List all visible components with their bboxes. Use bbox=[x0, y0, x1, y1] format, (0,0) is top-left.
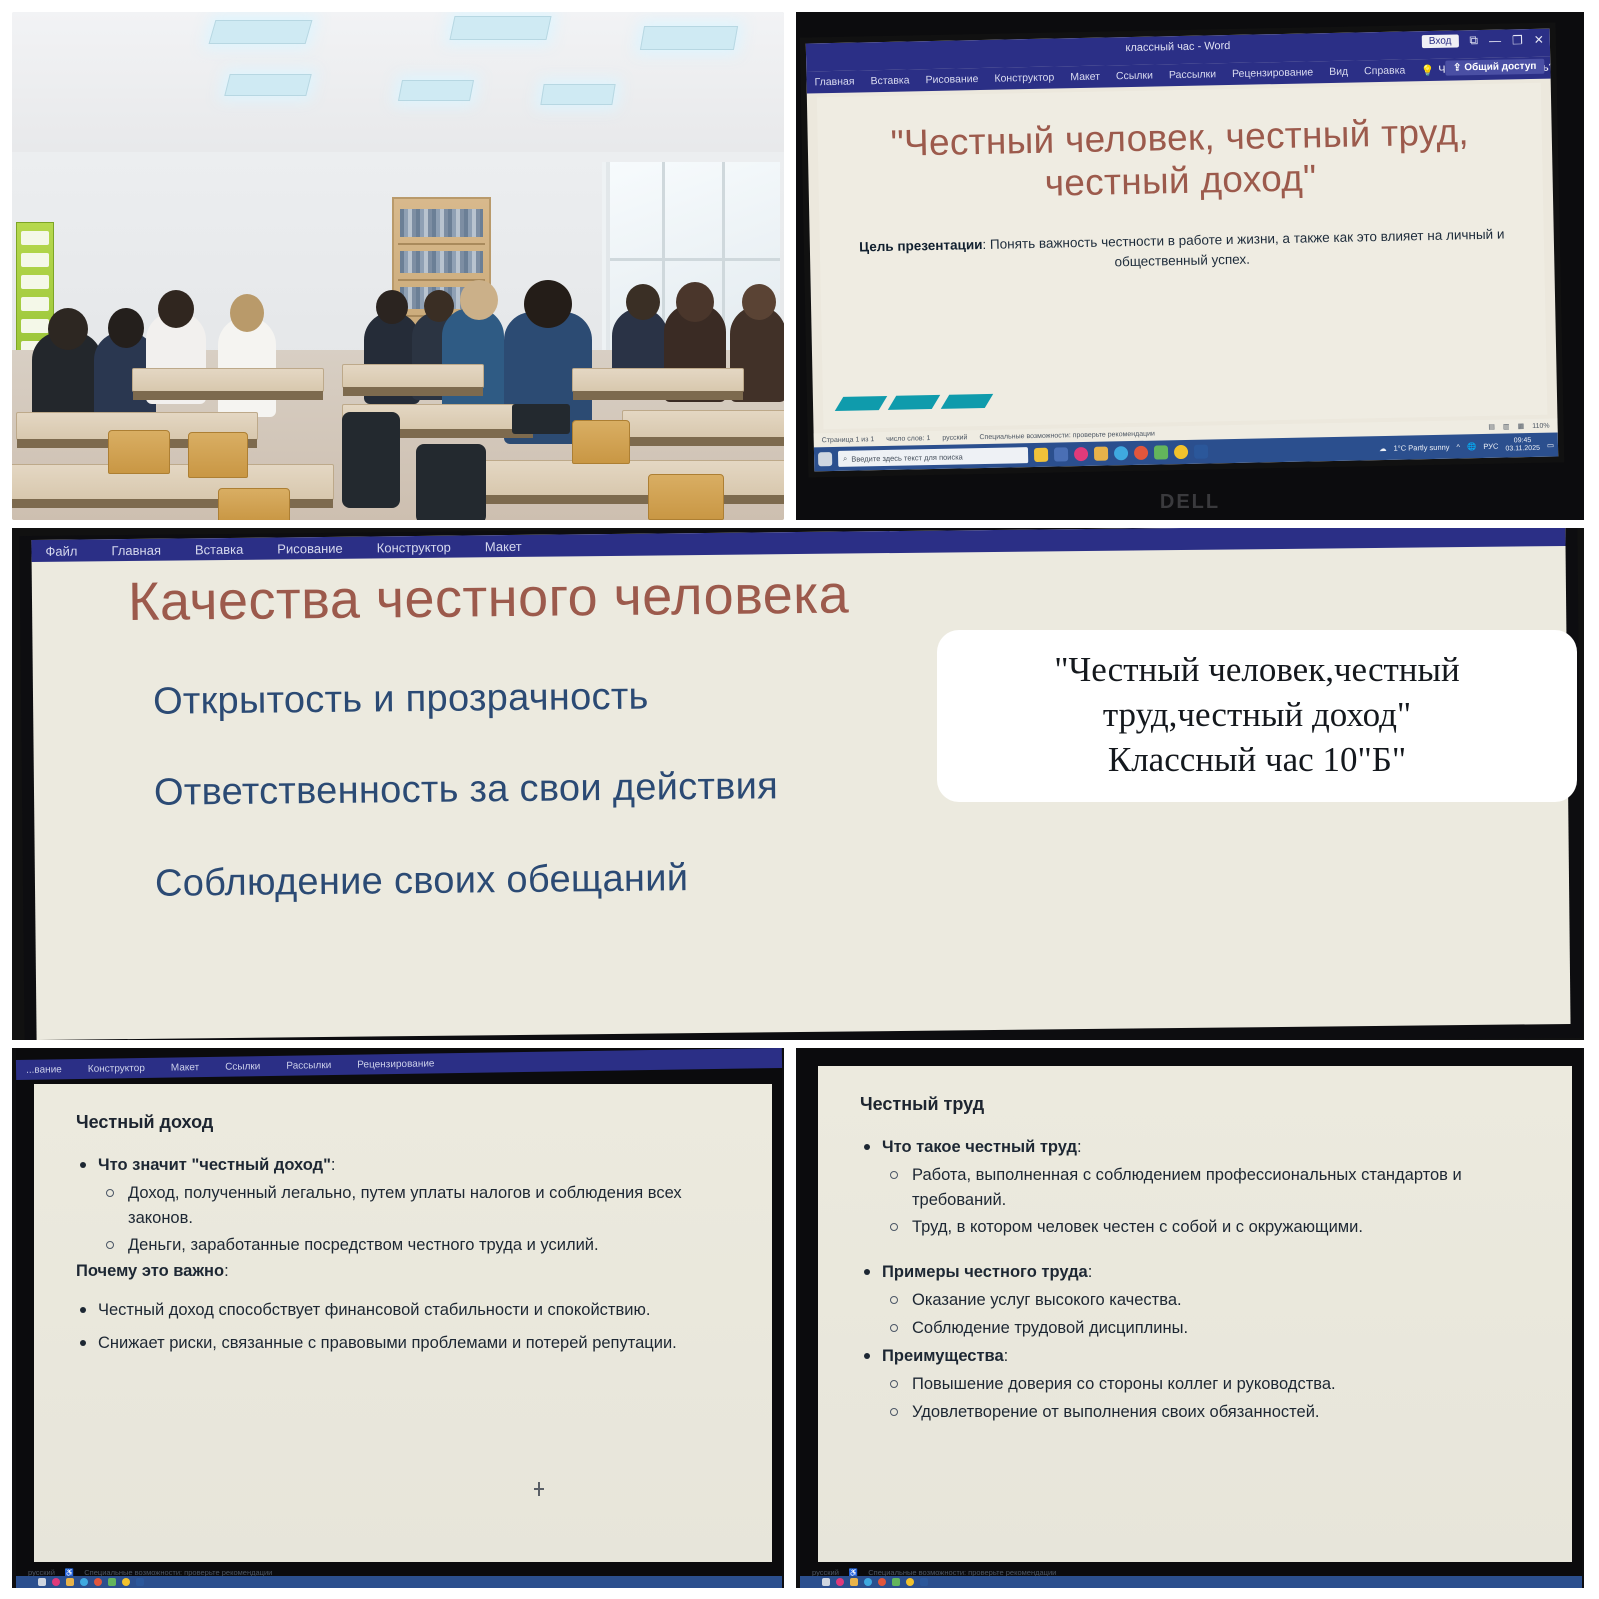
item-bold: Почему это важно bbox=[76, 1262, 224, 1280]
text-cursor-icon bbox=[534, 1482, 544, 1496]
tab-home[interactable]: Главная bbox=[814, 76, 854, 89]
list-item: Удовлетворение от выполнения своих обяза… bbox=[860, 1400, 1546, 1425]
share-icon: ⇪ bbox=[1453, 62, 1462, 73]
student-head bbox=[524, 280, 572, 328]
list-item: Что такое честный труд: bbox=[860, 1135, 1546, 1160]
desk bbox=[622, 410, 784, 438]
ceiling-lamp-icon bbox=[640, 26, 738, 50]
tab-review[interactable]: Рецензирование bbox=[1232, 66, 1313, 80]
status-right[interactable]: ▤ ▥ ▦ 110% bbox=[1488, 422, 1549, 431]
opera-icon[interactable] bbox=[52, 1578, 60, 1586]
caption-line-3: Классный час 10"Б" bbox=[963, 738, 1551, 783]
clock-date: 03.11.2025 bbox=[1505, 445, 1540, 453]
folder-icon[interactable] bbox=[1094, 447, 1108, 461]
slide-list: Что такое честный труд: Работа, выполнен… bbox=[818, 1115, 1572, 1425]
tab-help[interactable]: Справка bbox=[1364, 64, 1405, 77]
keyboard-language[interactable]: РУС bbox=[1483, 441, 1498, 450]
desk bbox=[572, 368, 744, 392]
explorer-icon[interactable] bbox=[1054, 447, 1068, 461]
student-head bbox=[230, 294, 264, 332]
browser-icon[interactable] bbox=[864, 1578, 872, 1586]
status-words: число слов: 1 bbox=[886, 435, 930, 443]
windows-taskbar[interactable] bbox=[16, 1576, 782, 1588]
list-item: Честный доход способствует финансовой ст… bbox=[76, 1298, 746, 1323]
status-accessibility[interactable]: Специальные возможности: проверьте реком… bbox=[979, 430, 1155, 441]
caption-line-2: труд,честный доход" bbox=[963, 693, 1551, 738]
caption-bubble: "Честный человек,честный труд,честный до… bbox=[937, 630, 1577, 802]
taskbar-search[interactable]: ⌕ Введите здесь текст для поиска bbox=[838, 447, 1028, 467]
student-head bbox=[676, 282, 714, 322]
sign-in-button[interactable]: Вход bbox=[1422, 34, 1459, 48]
screen: Честный труд Что такое честный труд: Раб… bbox=[818, 1066, 1572, 1562]
start-icon[interactable] bbox=[822, 1578, 830, 1586]
tab-draw[interactable]: Рисование bbox=[277, 540, 343, 556]
student-head bbox=[48, 308, 88, 350]
monitor-bezel: классный час - Word Вход ⧉ — ❐ ✕ Главная… bbox=[800, 22, 1565, 477]
screen: классный час - Word Вход ⧉ — ❐ ✕ Главная… bbox=[806, 29, 1558, 472]
tab-layout[interactable]: Макет bbox=[485, 538, 522, 553]
start-icon[interactable] bbox=[38, 1578, 46, 1586]
yandex-icon[interactable] bbox=[906, 1578, 914, 1586]
search-icon: ⌕ bbox=[843, 454, 847, 464]
status-page: Страница 1 из 1 bbox=[822, 436, 875, 444]
tab-design[interactable]: Конструктор bbox=[377, 539, 451, 555]
student bbox=[442, 308, 504, 412]
clock-time: 09:45 bbox=[1514, 437, 1532, 444]
list-item: Оказание услуг высокого качества. bbox=[860, 1288, 1546, 1313]
notifications-icon[interactable]: ▭ bbox=[1547, 440, 1554, 449]
word-icon[interactable] bbox=[1194, 445, 1208, 459]
list-item: Деньги, заработанные посредством честног… bbox=[76, 1233, 746, 1258]
tab-view[interactable]: Вид bbox=[1329, 66, 1348, 78]
item-rest: : bbox=[1077, 1138, 1082, 1156]
honest-labour-slide: Честный труд Что такое честный труд: Раб… bbox=[796, 1048, 1584, 1588]
word-icon[interactable] bbox=[920, 1578, 928, 1586]
tab-layout[interactable]: Макет bbox=[171, 1062, 199, 1073]
ceiling-lamp-icon bbox=[224, 74, 311, 96]
yandex-icon[interactable] bbox=[122, 1578, 130, 1586]
tab-insert[interactable]: Вставка bbox=[870, 74, 909, 87]
backpack bbox=[416, 444, 486, 520]
weather-label[interactable]: 1°C Partly sunny bbox=[1393, 442, 1449, 452]
slide-title: "Честный человек, честный труд, честный … bbox=[817, 83, 1543, 210]
item-bold: Что значит "честный доход" bbox=[98, 1156, 331, 1174]
list-item: Преимущества: bbox=[860, 1344, 1546, 1369]
close-icon[interactable]: ✕ bbox=[1534, 32, 1544, 46]
chair bbox=[108, 430, 170, 474]
chair bbox=[648, 474, 724, 520]
student-head bbox=[626, 284, 660, 320]
tab-design[interactable]: Конструктор bbox=[994, 72, 1054, 85]
ceiling-lamp-icon bbox=[209, 20, 313, 44]
backpack bbox=[342, 412, 400, 508]
document-page: "Честный человек, честный труд, честный … bbox=[817, 83, 1548, 429]
zoom-level[interactable]: 110% bbox=[1532, 422, 1550, 429]
chair bbox=[572, 420, 630, 464]
document-title: классный час - Word bbox=[1125, 40, 1230, 54]
desk bbox=[132, 368, 324, 392]
folder-icon[interactable] bbox=[850, 1578, 858, 1586]
ceiling-lamp-icon bbox=[449, 16, 551, 40]
share-button[interactable]: ⇪ Общий доступ bbox=[1445, 59, 1545, 76]
opera-icon[interactable] bbox=[836, 1578, 844, 1586]
bullet-promises: Соблюдение своих обещаний bbox=[155, 848, 1569, 906]
taskbar-clock[interactable]: 09:45 03.11.2025 bbox=[1505, 437, 1540, 454]
tab-design[interactable]: Конструктор bbox=[88, 1062, 145, 1074]
tab-layout[interactable]: Макет bbox=[1070, 71, 1100, 84]
pdf-icon[interactable] bbox=[878, 1578, 886, 1586]
notebook bbox=[512, 404, 570, 434]
chair bbox=[218, 488, 290, 520]
photo-collage: классный час - Word Вход ⧉ — ❐ ✕ Главная… bbox=[0, 0, 1599, 1599]
taskbar-tray[interactable]: ☁ 1°C Partly sunny ^ 🌐 РУС 09:45 03.11.2… bbox=[1379, 437, 1554, 457]
pdf-icon[interactable] bbox=[1134, 446, 1148, 460]
browser-icon[interactable] bbox=[1114, 446, 1128, 460]
goal-label: Цель презентации bbox=[859, 237, 983, 254]
list-item: Повышение доверия со стороны коллег и ру… bbox=[860, 1372, 1546, 1397]
slide-list: Что значит "честный доход": Доход, получ… bbox=[34, 1133, 772, 1355]
student-head bbox=[460, 280, 498, 320]
monitor-title-slide: классный час - Word Вход ⧉ — ❐ ✕ Главная… bbox=[796, 12, 1584, 520]
item-rest: : bbox=[224, 1262, 229, 1280]
tab-insert[interactable]: Вставка bbox=[195, 541, 243, 557]
item-rest: : bbox=[331, 1156, 336, 1174]
ceiling-lamp-icon bbox=[540, 84, 615, 105]
word-icon[interactable] bbox=[136, 1578, 144, 1586]
tab-home[interactable]: Главная bbox=[111, 542, 161, 558]
list-item: Что значит "честный доход": bbox=[76, 1153, 746, 1178]
tab-mailings[interactable]: Рассылки bbox=[286, 1060, 331, 1072]
item-rest: : bbox=[1088, 1263, 1093, 1281]
tab-references[interactable]: Ссылки bbox=[225, 1061, 260, 1073]
list-item: Примеры честного труда: bbox=[860, 1260, 1546, 1285]
item-bold: Преимущества bbox=[882, 1347, 1004, 1365]
student-head bbox=[158, 290, 194, 328]
decorative-stripes-icon bbox=[839, 394, 989, 411]
show-hidden-icons[interactable]: ^ bbox=[1456, 442, 1460, 451]
list-item: Работа, выполненная с соблюдением профес… bbox=[860, 1163, 1546, 1213]
student bbox=[218, 317, 276, 417]
student-head bbox=[108, 308, 144, 348]
restore-ribbon-icon[interactable]: ⧉ bbox=[1469, 33, 1478, 48]
folder-icon[interactable] bbox=[66, 1578, 74, 1586]
view-web-icon[interactable]: ▥ bbox=[1503, 422, 1510, 430]
yandex-icon[interactable] bbox=[1174, 445, 1188, 459]
excel-icon[interactable] bbox=[1154, 445, 1168, 459]
network-icon[interactable]: 🌐 bbox=[1467, 442, 1477, 451]
list-item: Доход, полученный легально, путем уплаты… bbox=[76, 1181, 746, 1231]
browser-icon[interactable] bbox=[80, 1578, 88, 1586]
ribbon-tabs[interactable]: ...вание Конструктор Макет Ссылки Рассыл… bbox=[16, 1048, 782, 1080]
monitor-brand-logo: DELL bbox=[1160, 491, 1220, 514]
chair bbox=[188, 432, 248, 478]
list-item: Почему это важно: bbox=[76, 1259, 746, 1284]
list-item: Соблюдение трудовой дисциплины. bbox=[860, 1316, 1546, 1341]
maximize-icon[interactable]: ❐ bbox=[1512, 33, 1523, 47]
start-icon[interactable] bbox=[818, 452, 832, 466]
status-language: русский bbox=[942, 434, 967, 442]
minimize-icon[interactable]: — bbox=[1489, 33, 1501, 47]
window-controls[interactable]: Вход ⧉ — ❐ ✕ bbox=[1422, 32, 1544, 49]
goal-text: : Понять важность честности в работе и ж… bbox=[982, 226, 1504, 269]
cortana-icon[interactable] bbox=[1034, 448, 1048, 462]
tab-draw[interactable]: ...вание bbox=[26, 1064, 62, 1076]
search-placeholder: Введите здесь текст для поиска bbox=[851, 452, 963, 463]
classroom-photo bbox=[12, 12, 784, 520]
opera-icon[interactable] bbox=[1074, 447, 1088, 461]
desk bbox=[342, 364, 484, 388]
view-read-icon[interactable]: ▦ bbox=[1518, 422, 1525, 430]
windows-taskbar[interactable] bbox=[800, 1576, 1582, 1588]
tab-references[interactable]: Ссылки bbox=[1116, 70, 1153, 83]
item-bold: Что такое честный труд bbox=[882, 1138, 1077, 1156]
list-item: Снижает риски, связанные с правовыми про… bbox=[76, 1331, 746, 1356]
share-label: Общий доступ bbox=[1464, 61, 1536, 73]
caption-line-1: "Честный человек,честный bbox=[963, 648, 1551, 693]
honest-income-slide: ...вание Конструктор Макет Ссылки Рассыл… bbox=[12, 1048, 784, 1588]
slide-goal: Цель презентации: Понять важность честно… bbox=[848, 224, 1517, 278]
slide-heading: Честный труд bbox=[818, 1066, 1572, 1115]
excel-icon[interactable] bbox=[892, 1578, 900, 1586]
screen-bezel: Честный труд Что такое честный труд: Раб… bbox=[800, 1048, 1582, 1588]
tab-draw[interactable]: Рисование bbox=[925, 73, 978, 86]
student-head bbox=[742, 284, 776, 320]
lightbulb-icon: 💡 bbox=[1421, 63, 1434, 76]
item-bold: Примеры честного труда bbox=[882, 1263, 1088, 1281]
slide-heading: Честный доход bbox=[34, 1084, 772, 1133]
desk bbox=[452, 460, 784, 496]
screen: Честный доход Что значит "честный доход"… bbox=[34, 1084, 772, 1562]
tab-file[interactable]: Файл bbox=[45, 543, 77, 558]
list-item: Труд, в котором человек честен с собой и… bbox=[860, 1215, 1546, 1240]
item-rest: : bbox=[1004, 1347, 1009, 1365]
tab-mailings[interactable]: Рассылки bbox=[1169, 68, 1216, 81]
weather-icon[interactable]: ☁ bbox=[1379, 443, 1387, 452]
student-head bbox=[376, 290, 408, 324]
view-print-icon[interactable]: ▤ bbox=[1488, 423, 1495, 431]
excel-icon[interactable] bbox=[108, 1578, 116, 1586]
tab-review[interactable]: Рецензирование bbox=[357, 1058, 434, 1070]
screen-bezel: ...вание Конструктор Макет Ссылки Рассыл… bbox=[16, 1048, 782, 1588]
ceiling-lamp-icon bbox=[398, 80, 474, 101]
pdf-icon[interactable] bbox=[94, 1578, 102, 1586]
